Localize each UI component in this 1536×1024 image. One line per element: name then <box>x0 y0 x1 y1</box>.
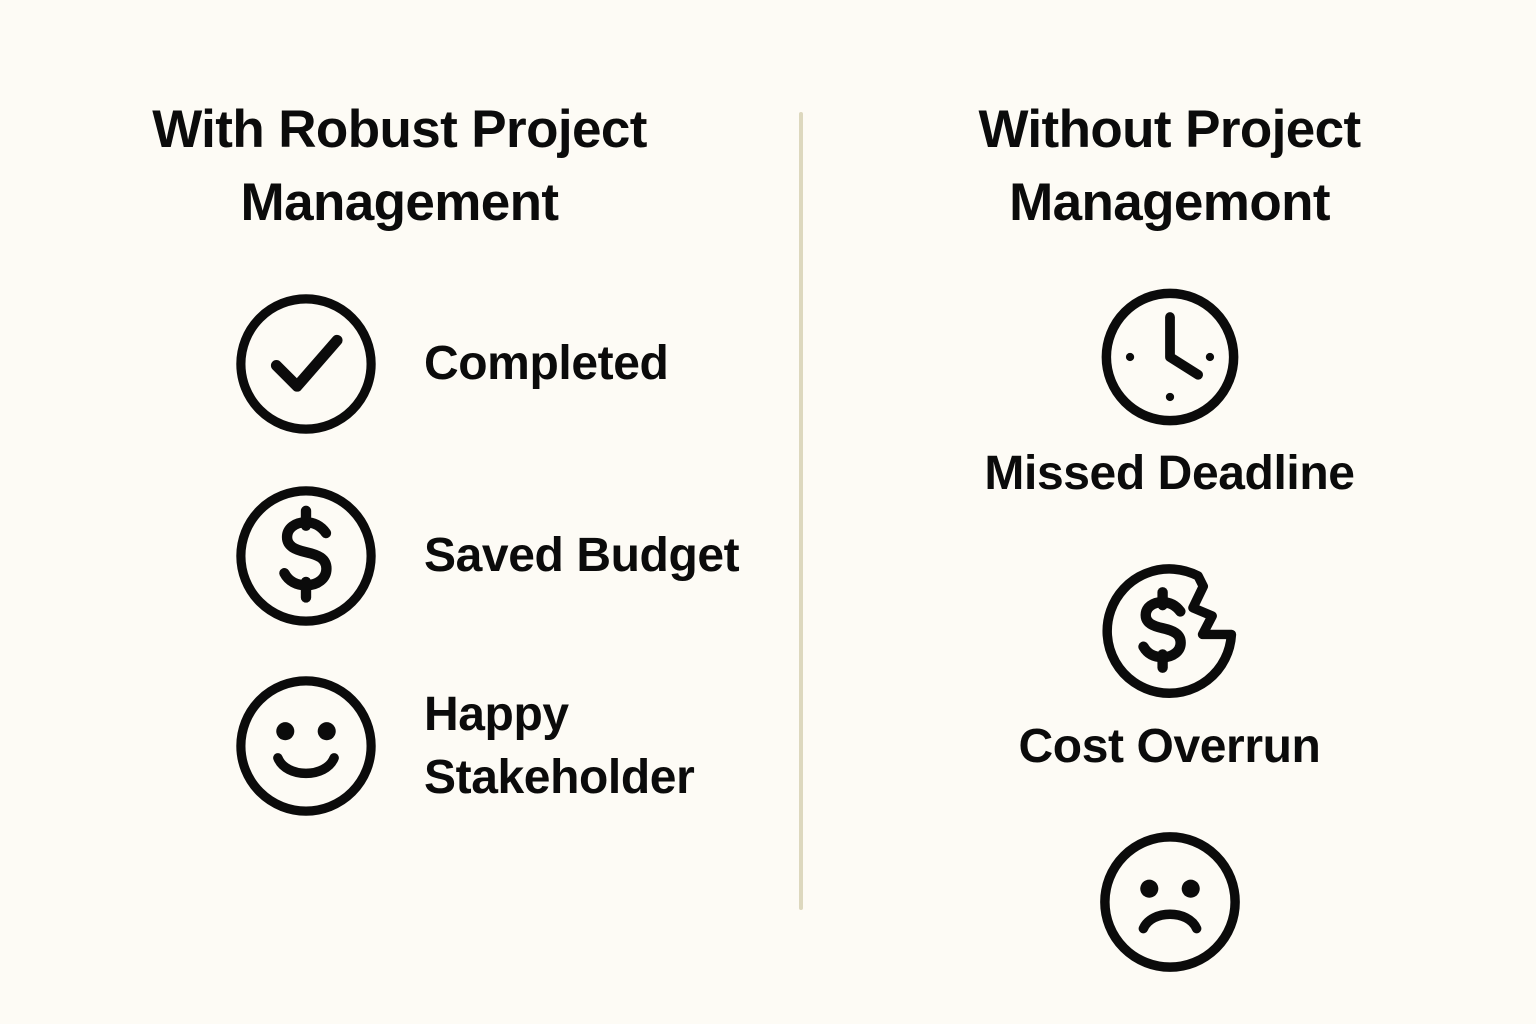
right-column: Without Project Managemont Missed Deadli… <box>803 0 1536 1024</box>
bitten-coin-icon <box>1096 556 1244 704</box>
left-column: With Robust Project Management Completed <box>0 0 799 1024</box>
list-item-cost-overrun: Cost Overrun <box>803 556 1536 776</box>
list-item-sad-face <box>803 828 1536 990</box>
check-circle-icon <box>232 290 380 438</box>
dollar-coin-icon <box>232 482 380 630</box>
list-item-label: Missed Deadline <box>803 445 1536 503</box>
list-item-label: Cost Overrun <box>803 718 1536 776</box>
left-column-heading: With Robust Project Management <box>0 93 799 239</box>
list-item-label: Saved Budget <box>424 524 739 587</box>
list-item-label: Happy Stakeholder <box>424 683 754 810</box>
list-item-completed: Completed <box>232 290 668 438</box>
infographic-canvas: With Robust Project Management Completed <box>0 0 1536 1024</box>
right-column-heading: Without Project Managemont <box>803 93 1536 239</box>
list-item-missed-deadline: Missed Deadline <box>803 283 1536 503</box>
happy-face-icon <box>232 672 380 820</box>
list-item-label: Completed <box>424 332 668 395</box>
sad-face-icon <box>1096 828 1244 976</box>
list-item-saved-budget: Saved Budget <box>232 482 739 630</box>
list-item-happy-stakeholder: Happy Stakeholder <box>232 672 754 820</box>
clock-icon <box>1096 283 1244 431</box>
